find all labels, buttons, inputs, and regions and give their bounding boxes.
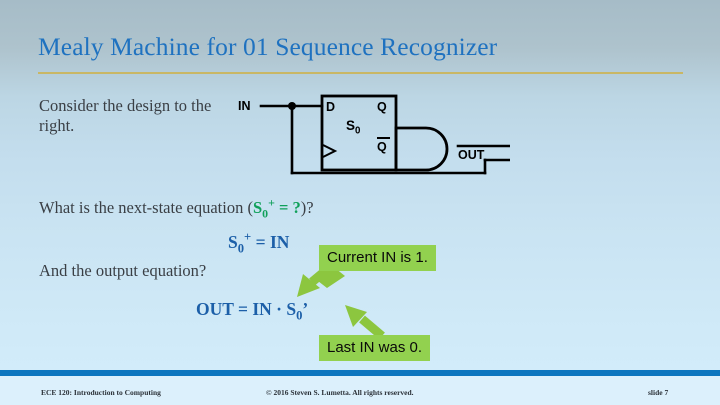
and-gate-icon: [396, 128, 447, 170]
question-highlight: S0+ = ?: [253, 198, 301, 217]
flipflop-state-label: S0: [346, 118, 360, 137]
footer-copyright: © 2016 Steven S. Lumetta. All rights res…: [266, 388, 414, 397]
output-question: And the output equation?: [39, 261, 206, 281]
callout-2-arrow: [345, 305, 382, 336]
slide-canvas: Mealy Machine for 01 Sequence Recognizer…: [0, 0, 720, 405]
title-divider: [38, 72, 683, 74]
footer-slide-number: slide 7: [648, 388, 668, 397]
wire-junction-dot: [288, 102, 296, 110]
next-state-equation: S0+ = IN: [228, 232, 289, 253]
flipflop-q-label: Q: [377, 100, 387, 114]
input-label: IN: [238, 99, 251, 113]
flipflop-d-label: D: [326, 100, 335, 114]
callout-last-in: Last IN was 0.: [319, 335, 430, 361]
next-state-question: What is the next-state equation (S0+ = ?…: [39, 198, 314, 218]
circuit-diagram: IN OUT D Q Q S0: [230, 88, 510, 183]
question-prefix: What is the next-state equation (: [39, 198, 253, 217]
footer-course: ECE 120: Introduction to Computing: [41, 388, 161, 397]
circuit-svg: [230, 88, 510, 183]
callout-current-in: Current IN is 1.: [319, 245, 436, 271]
output-equation: OUT = IN · S0’: [196, 299, 308, 320]
question-suffix: )?: [301, 198, 314, 217]
page-title: Mealy Machine for 01 Sequence Recognizer: [38, 32, 497, 62]
output-label: OUT: [458, 148, 484, 162]
flipflop-qbar-label: Q: [377, 140, 387, 154]
clock-triangle-icon: [323, 145, 335, 157]
consider-text: Consider the design to the right.: [39, 96, 214, 135]
